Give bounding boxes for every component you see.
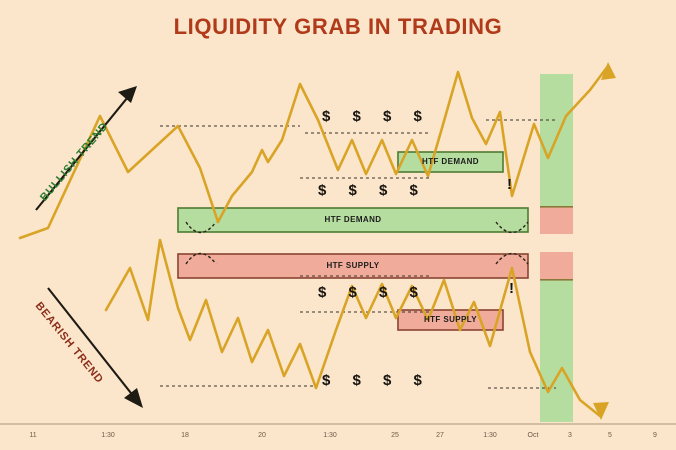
band-bear-green-line xyxy=(540,279,573,281)
bearish-trend-arrow-shaft xyxy=(48,288,138,402)
diagram-canvas: LIQUIDITY GRAB IN TRADING xyxy=(0,0,676,450)
warning-bear: ! xyxy=(509,280,514,297)
axis-tick-6: 27 xyxy=(436,432,444,439)
htf-supply-large-label: HTF SUPPLY xyxy=(178,261,528,270)
htf-demand-small-label: HTF DEMAND xyxy=(398,157,503,166)
bullish-trend-arrowhead xyxy=(118,86,137,103)
axis-tick-8: Oct xyxy=(528,432,539,439)
dollars-bear-bottom: $ $ $ $ xyxy=(322,372,431,389)
dollars-bull-bottom: $ $ $ $ xyxy=(318,182,427,199)
price-arrowheads xyxy=(593,62,616,420)
warning-bull: ! xyxy=(507,176,512,193)
dollars-bear-top: $ $ $ $ xyxy=(318,284,427,301)
dollars-bull-top: $ $ $ $ xyxy=(322,108,431,125)
axis-tick-1: 1:30 xyxy=(101,432,115,439)
axis-tick-3: 20 xyxy=(258,432,266,439)
htf-supply-small-label: HTF SUPPLY xyxy=(398,315,503,324)
axis-tick-5: 25 xyxy=(391,432,399,439)
axis-tick-2: 18 xyxy=(181,432,189,439)
axis-tick-4: 1:30 xyxy=(323,432,337,439)
band-bull-red xyxy=(540,207,573,234)
band-bear-red xyxy=(540,252,573,280)
band-bull-red-line xyxy=(540,206,573,208)
axis-tick-10: 5 xyxy=(608,432,612,439)
axis-tick-9: 3 xyxy=(568,432,572,439)
bearish-trend-arrowhead xyxy=(124,388,143,408)
htf-demand-large-label: HTF DEMAND xyxy=(178,215,528,224)
axis-tick-0: 11 xyxy=(29,432,36,439)
band-bear-green xyxy=(540,280,573,422)
vertical-bands xyxy=(540,74,573,422)
axis-tick-11: 9 xyxy=(653,432,657,439)
axis-tick-7: 1:30 xyxy=(483,432,497,439)
